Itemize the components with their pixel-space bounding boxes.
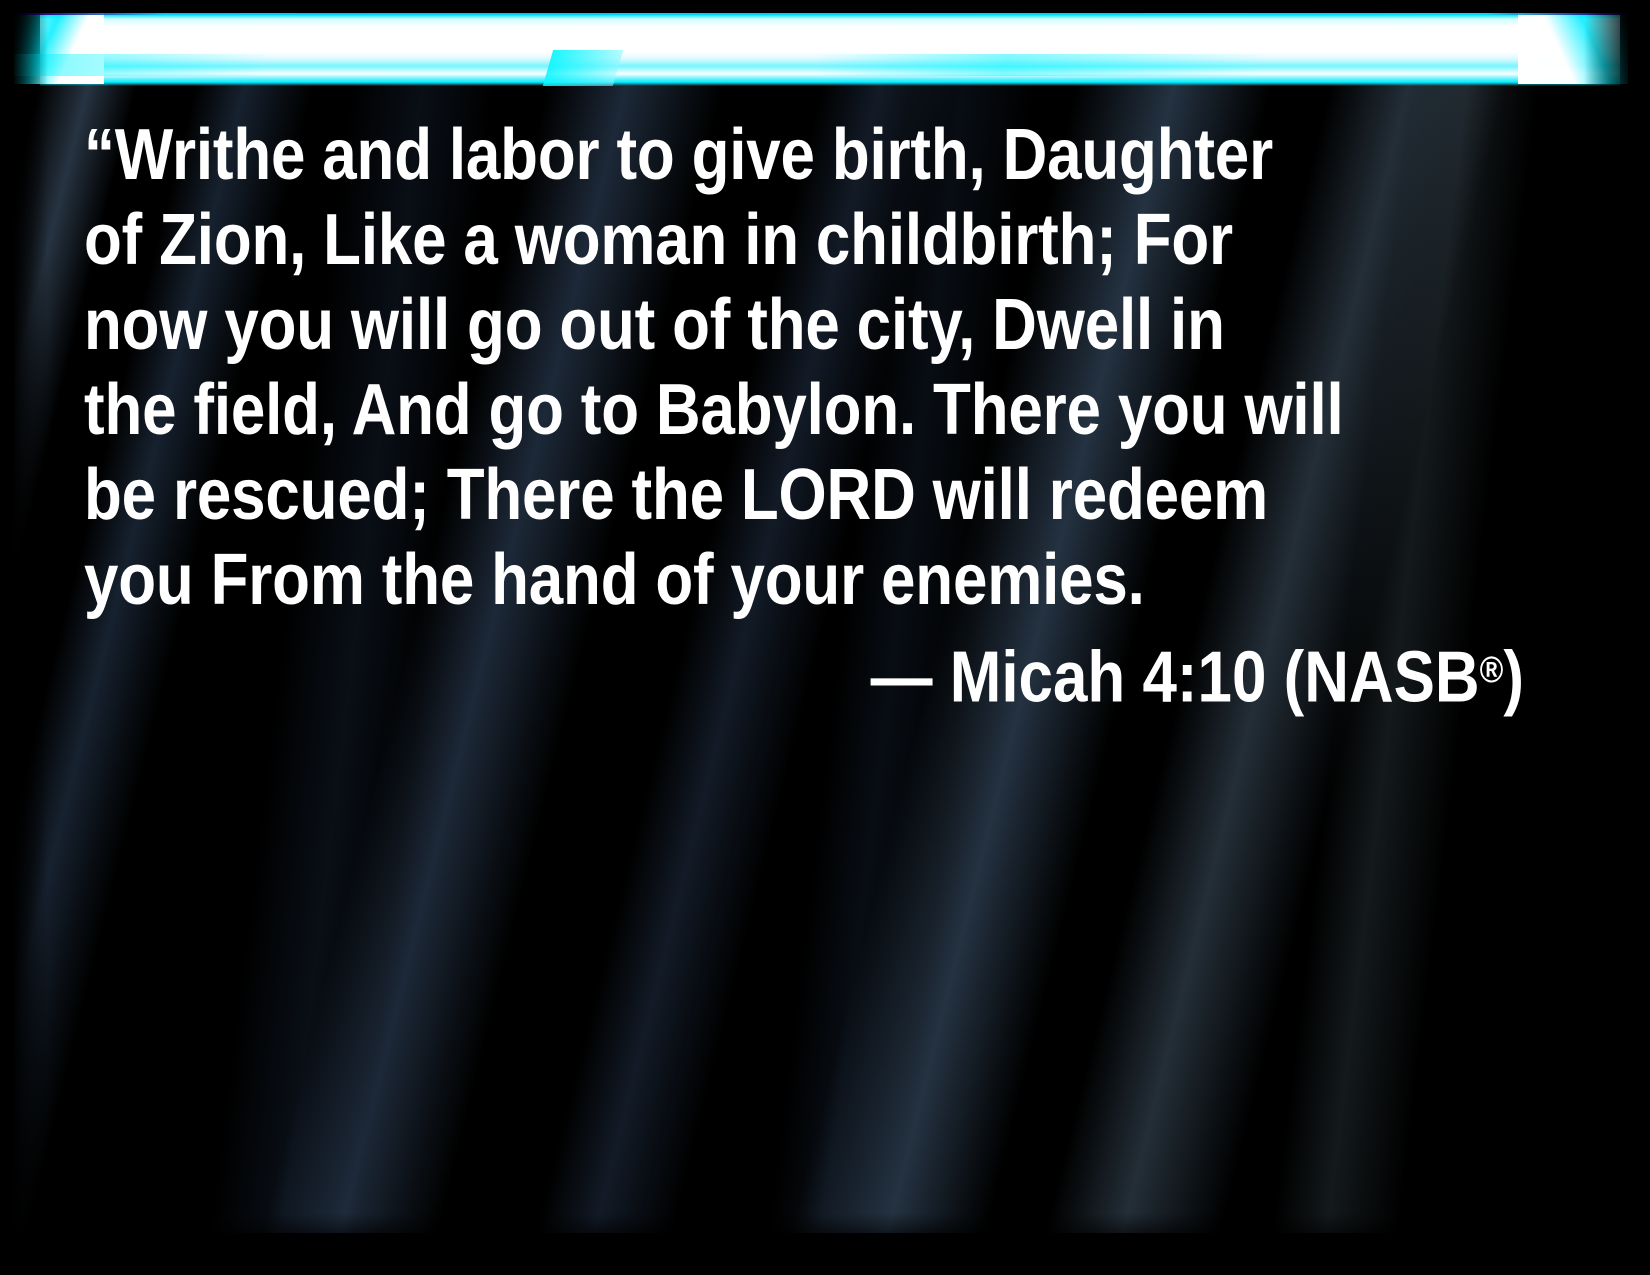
frame-border-left bbox=[0, 0, 14, 1275]
verse-line: now you will go out of the city, Dwell i… bbox=[84, 283, 1322, 368]
verse-text-block: “Writhe and labor to give birth, Daughte… bbox=[84, 113, 1524, 720]
registered-trademark-icon: ® bbox=[1480, 648, 1504, 690]
frame-border-top bbox=[0, 0, 1650, 13]
attribution-prefix: — Micah 4:10 (NASB bbox=[871, 637, 1480, 717]
verse-line: be rescued; There the LORD will redeem bbox=[84, 453, 1322, 538]
verse-line: you From the hand of your enemies. bbox=[84, 538, 1322, 623]
frame-border-bottom bbox=[0, 1233, 1650, 1275]
verse-attribution: — Micah 4:10 (NASB®) bbox=[286, 627, 1524, 720]
attribution-suffix: ) bbox=[1503, 637, 1524, 717]
frame-border-right bbox=[1630, 0, 1650, 1275]
text-layer: “Writhe and labor to give birth, Daughte… bbox=[0, 0, 1650, 1275]
verse-line: “Writhe and labor to give birth, Daughte… bbox=[84, 113, 1322, 198]
verse-line: the field, And go to Babylon. There you … bbox=[84, 368, 1322, 453]
verse-line: of Zion, Like a woman in childbirth; For bbox=[84, 198, 1322, 283]
scripture-slide: “Writhe and labor to give birth, Daughte… bbox=[0, 0, 1650, 1275]
